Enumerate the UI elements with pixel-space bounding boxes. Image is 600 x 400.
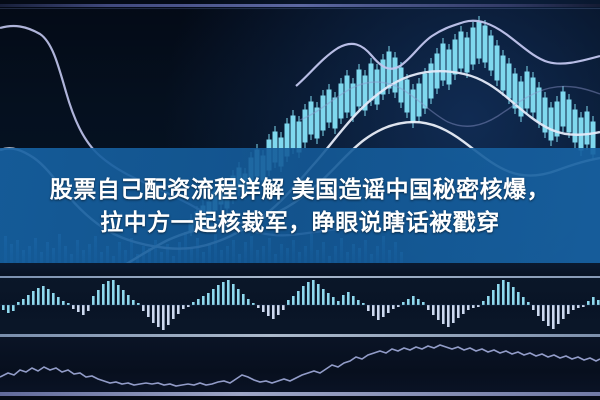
bottom-fill-strip (0, 396, 600, 400)
index-line (0, 345, 600, 386)
headline-line-2: 拉中方一起核裁军，睁眼说瞎话被戳穿 (100, 209, 500, 235)
macd-histogram-svg (0, 278, 600, 334)
index-line-svg (0, 337, 600, 395)
top-border-rule-secondary (0, 8, 600, 9)
top-border-rule (0, 4, 600, 7)
macd-histogram-panel (0, 278, 600, 334)
headline-line-1: 股票自己配资流程详解 美国造谣中国秘密核爆， (50, 176, 550, 202)
headline-banner: 股票自己配资流程详解 美国造谣中国秘密核爆， 拉中方一起核裁军，睁眼说瞎话被戳穿 (0, 148, 600, 263)
index-line-panel (0, 337, 600, 395)
screenshot-canvas: 股票自己配资流程详解 美国造谣中国秘密核爆， 拉中方一起核裁军，睁眼说瞎话被戳穿 (0, 0, 600, 400)
